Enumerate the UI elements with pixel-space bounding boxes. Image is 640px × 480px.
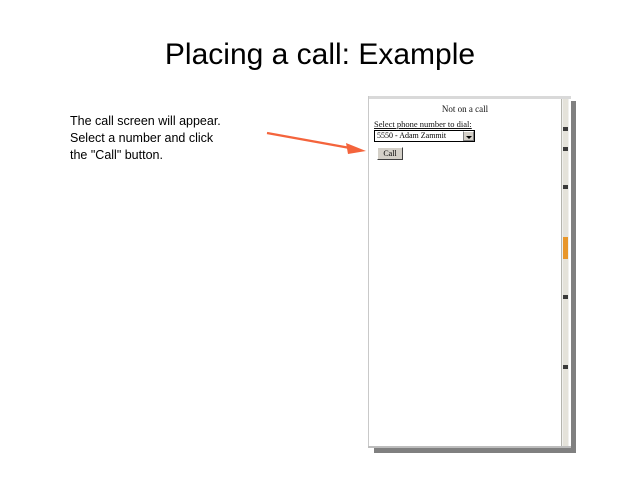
- page-title: Placing a call: Example: [0, 38, 640, 72]
- scrollbar-track[interactable]: [563, 99, 568, 446]
- scrollbar-accent-mark: [563, 237, 568, 259]
- arrow-head: [346, 143, 366, 154]
- pointer-arrow-svg: [262, 124, 370, 158]
- call-status-text: Not on a call: [369, 104, 561, 114]
- body-line-2: Select a number and click: [70, 130, 270, 147]
- scrollbar-tick: [563, 185, 568, 189]
- dial-number-label: Select phone number to dial:: [374, 119, 472, 129]
- phone-number-selected-value: 5550 - Adam Zammit: [377, 131, 446, 141]
- body-line-1: The call screen will appear.: [70, 113, 270, 130]
- panel-bottom-border: [368, 446, 571, 448]
- scrollbar-tick: [563, 365, 568, 369]
- scrollbar-tick: [563, 147, 568, 151]
- scrollbar-tick: [563, 127, 568, 131]
- pointer-arrow-icon: [262, 124, 370, 158]
- body-line-3: the "Call" button.: [70, 147, 270, 164]
- chevron-down-icon[interactable]: [463, 131, 474, 141]
- arrow-shaft: [267, 133, 350, 148]
- scrollbar-tick: [563, 295, 568, 299]
- call-screen-content: Not on a call Select phone number to dia…: [369, 99, 561, 446]
- embedded-screenshot-panel: Not on a call Select phone number to dia…: [368, 96, 571, 448]
- vertical-scrollbar[interactable]: [561, 99, 569, 446]
- call-button[interactable]: Call: [377, 147, 403, 160]
- caret-glyph: [466, 136, 472, 139]
- slide-body-text: The call screen will appear. Select a nu…: [70, 113, 270, 164]
- phone-number-select[interactable]: 5550 - Adam Zammit: [374, 130, 475, 142]
